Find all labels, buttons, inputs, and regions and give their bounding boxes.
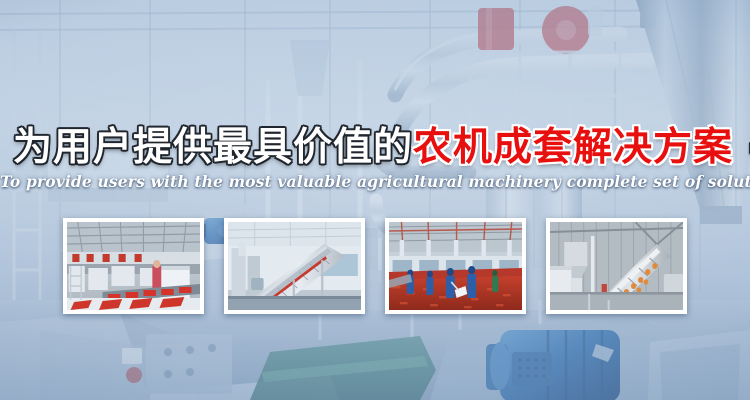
thumb-bucket-elevator[interactable] bbox=[546, 218, 687, 314]
promo-banner: 为用户提供最具价值的农机成套解决方案 To provide users with… bbox=[0, 0, 750, 400]
thumb-image-4 bbox=[550, 222, 683, 310]
background-vignette bbox=[0, 0, 750, 400]
page-title: 为用户提供最具价值的农机成套解决方案 bbox=[13, 125, 733, 171]
headline-white-text: 为用户提供最具价值的 bbox=[13, 125, 413, 170]
thumb-image-2 bbox=[228, 222, 361, 310]
headline-red-text: 农机成套解决方案 bbox=[413, 125, 733, 170]
thumb-factory-packing-line[interactable] bbox=[63, 218, 204, 314]
thumb-workers-drying-chilies[interactable] bbox=[385, 218, 526, 314]
thumb-image-1 bbox=[67, 222, 200, 310]
background-photo bbox=[0, 0, 750, 400]
headline-row: 为用户提供最具价值的农机成套解决方案 bbox=[0, 124, 750, 172]
thumb-image-3 bbox=[389, 222, 522, 310]
page-subtitle: To provide users with the most valuable … bbox=[0, 172, 750, 191]
thumb-inclined-conveyor[interactable] bbox=[224, 218, 365, 314]
thumbnail-strip bbox=[63, 218, 687, 314]
